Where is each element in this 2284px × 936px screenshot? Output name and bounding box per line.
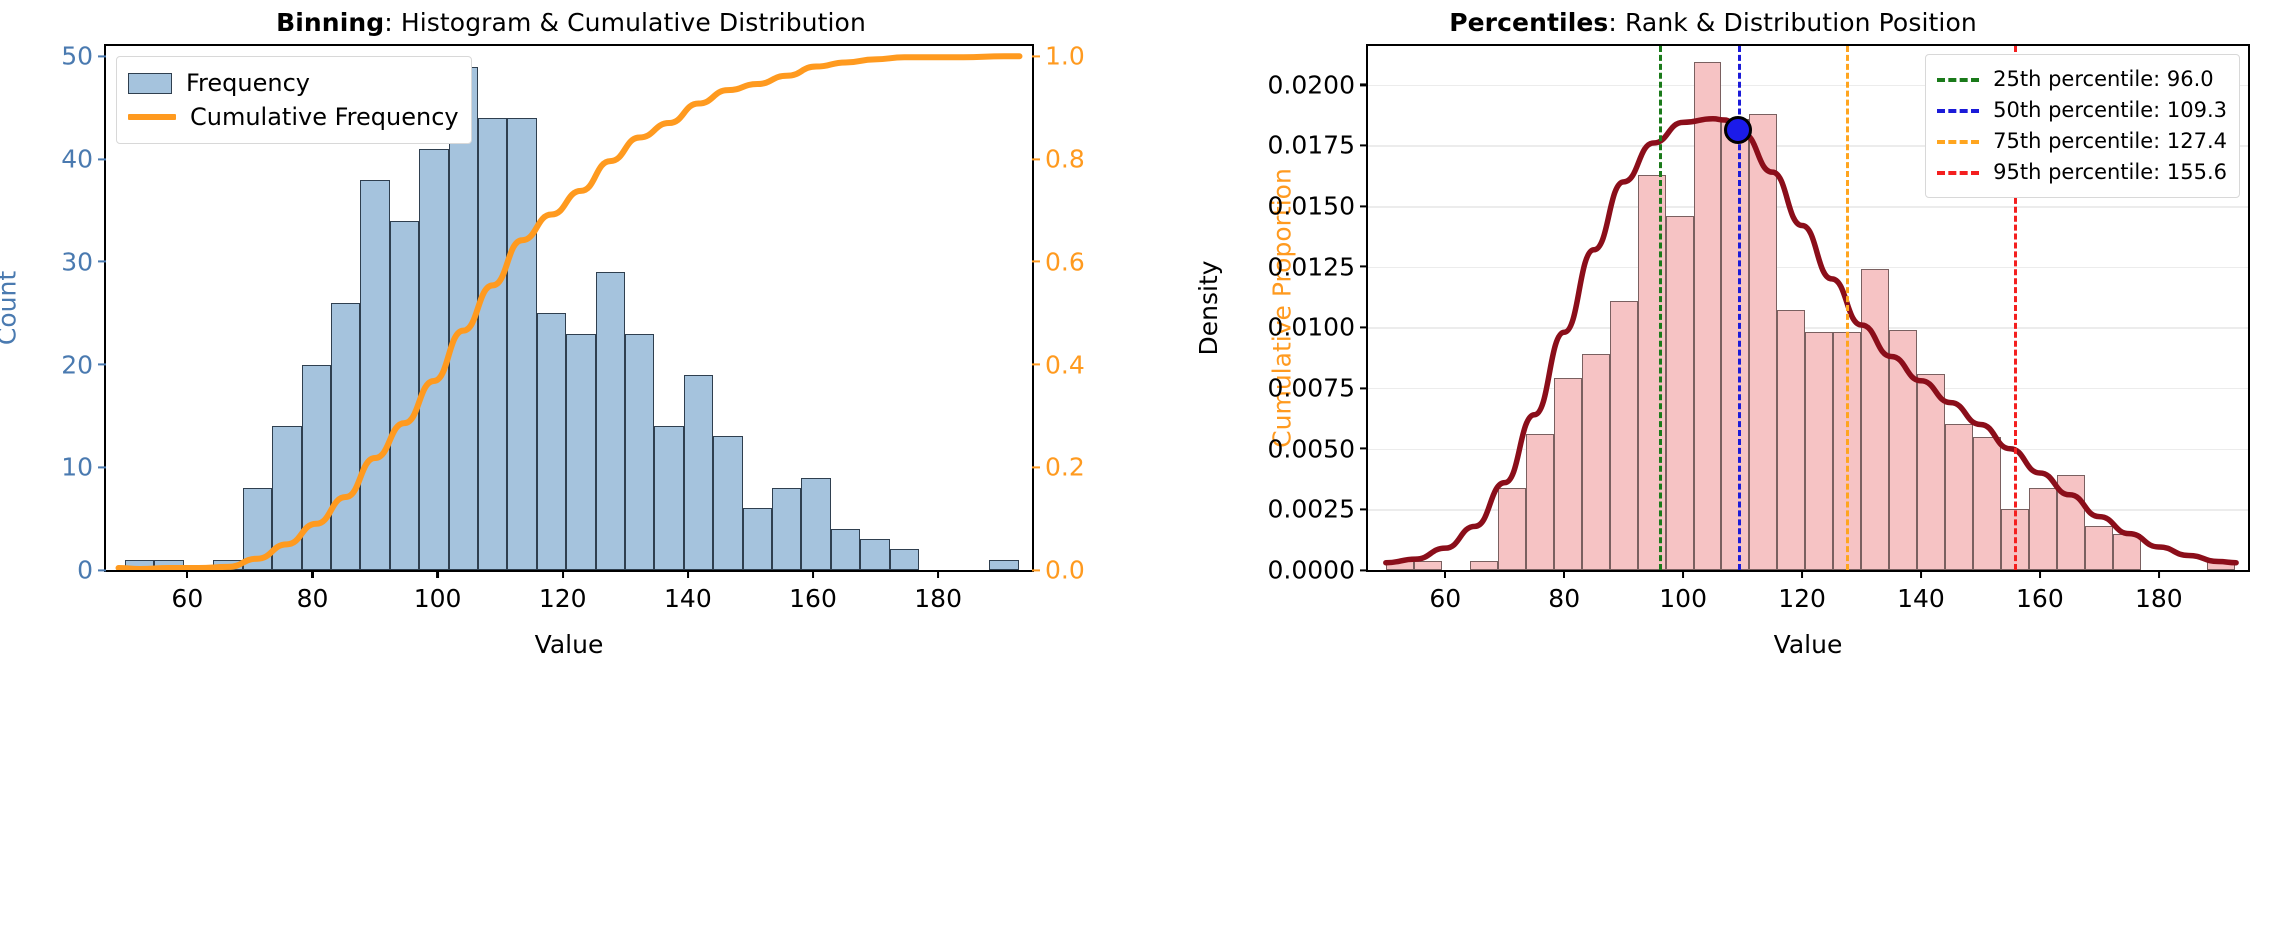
- right-title-rest: : Rank & Distribution Position: [1608, 8, 1976, 37]
- legend-swatch-frequency: [128, 73, 172, 94]
- density-tick: 0.0150: [1268, 194, 1368, 219]
- legend-label: 95th percentile: 155.6: [1993, 162, 2227, 183]
- percentile-line-75th-percentile: [1846, 46, 1849, 570]
- tick-mark: [98, 55, 106, 57]
- right-title-bold: Percentiles: [1449, 8, 1608, 37]
- tick-mark: [1032, 363, 1040, 365]
- legend-dash-swatch: [1937, 78, 1979, 82]
- tick-mark: [98, 363, 106, 365]
- left-ylabel-count: Count: [0, 271, 21, 345]
- value-tick: 60: [1429, 570, 1461, 611]
- legend-item[interactable]: 50th percentile: 109.3: [1937, 95, 2227, 126]
- tick-mark: [1360, 569, 1368, 571]
- tick-mark: [98, 466, 106, 468]
- tick-mark: [1360, 326, 1368, 328]
- legend-item[interactable]: Cumulative Frequency: [128, 100, 459, 134]
- tick-mark: [687, 570, 689, 578]
- right-chart-title: Percentiles: Rank & Distribution Positio…: [1142, 8, 2284, 37]
- right-ylabel-density: Density: [1194, 260, 1223, 355]
- tick-mark: [1563, 570, 1565, 578]
- tick-mark: [1360, 144, 1368, 146]
- patch-icon: [128, 73, 172, 94]
- left-chart-title: Binning: Histogram & Cumulative Distribu…: [0, 8, 1142, 37]
- legend-label: 75th percentile: 127.4: [1993, 131, 2227, 152]
- panel-binning: Binning: Histogram & Cumulative Distribu…: [0, 0, 1142, 936]
- figure-canvas: Binning: Histogram & Cumulative Distribu…: [0, 0, 2284, 936]
- cumulative-proportion-tick: 0.8: [1032, 147, 1085, 172]
- density-tick: 0.0200: [1268, 72, 1368, 97]
- tick-mark: [311, 570, 313, 578]
- value-tick: 100: [414, 570, 462, 611]
- density-tick: 0.0100: [1268, 315, 1368, 340]
- legend-swatch-cumulative: [128, 114, 176, 120]
- tick-mark: [1360, 387, 1368, 389]
- tick-mark: [1360, 84, 1368, 86]
- count-tick: 10: [61, 455, 106, 480]
- tick-mark: [1032, 55, 1040, 57]
- value-tick: 120: [539, 570, 587, 611]
- legend-label: 50th percentile: 109.3: [1993, 100, 2227, 121]
- tick-mark: [186, 570, 188, 578]
- percentile-line-25th-percentile: [1659, 46, 1662, 570]
- count-tick: 50: [61, 44, 106, 69]
- dashed-line-icon: [1937, 109, 1979, 113]
- tick-mark: [2039, 570, 2041, 578]
- tick-mark: [2158, 570, 2160, 578]
- tick-mark: [1444, 570, 1446, 578]
- tick-mark: [1032, 158, 1040, 160]
- legend-dash-swatch: [1937, 109, 1979, 113]
- legend-dash-swatch: [1937, 171, 1979, 175]
- tick-mark: [1360, 508, 1368, 510]
- value-tick: 140: [1897, 570, 1945, 611]
- count-tick: 0: [77, 558, 106, 583]
- dashed-line-icon: [1937, 171, 1979, 175]
- tick-mark: [1032, 569, 1040, 571]
- density-tick: 0.0075: [1268, 376, 1368, 401]
- legend-label: 25th percentile: 96.0: [1993, 69, 2213, 90]
- tick-mark: [98, 569, 106, 571]
- tick-mark: [1360, 205, 1368, 207]
- tick-mark: [98, 261, 106, 263]
- legend-item[interactable]: Frequency: [128, 66, 459, 100]
- left-legend[interactable]: FrequencyCumulative Frequency: [116, 56, 472, 144]
- count-tick: 40: [61, 147, 106, 172]
- tick-mark: [1360, 266, 1368, 268]
- right-xlabel-value: Value: [1774, 630, 1843, 659]
- cumulative-proportion-tick: 0.4: [1032, 352, 1085, 377]
- tick-mark: [1360, 448, 1368, 450]
- legend-label: Frequency: [186, 71, 310, 95]
- tick-mark: [1032, 261, 1040, 263]
- line-icon: [128, 114, 176, 120]
- left-axes: 01020304050 0.00.20.40.60.81.0 608010012…: [104, 44, 1034, 572]
- cumulative-proportion-tick: 0.0: [1032, 558, 1085, 583]
- dashed-line-icon: [1937, 140, 1979, 144]
- density-tick: 0.0000: [1268, 558, 1368, 583]
- density-tick: 0.0125: [1268, 254, 1368, 279]
- value-tick: 60: [171, 570, 203, 611]
- left-title-rest: : Histogram & Cumulative Distribution: [384, 8, 866, 37]
- cumulative-proportion-tick: 1.0: [1032, 44, 1085, 69]
- value-tick: 120: [1778, 570, 1826, 611]
- right-axes: 0.00000.00250.00500.00750.01000.01250.01…: [1366, 44, 2250, 572]
- cumulative-proportion-tick: 0.2: [1032, 455, 1085, 480]
- tick-mark: [562, 570, 564, 578]
- count-tick: 30: [61, 249, 106, 274]
- density-tick: 0.0050: [1268, 436, 1368, 461]
- tick-mark: [437, 570, 439, 578]
- density-tick: 0.0175: [1268, 133, 1368, 158]
- value-tick: 160: [789, 570, 837, 611]
- legend-item[interactable]: 75th percentile: 127.4: [1937, 126, 2227, 157]
- density-tick: 0.0025: [1268, 497, 1368, 522]
- value-tick: 180: [2135, 570, 2183, 611]
- legend-item[interactable]: 95th percentile: 155.6: [1937, 157, 2227, 188]
- value-tick: 160: [2016, 570, 2064, 611]
- legend-dash-swatch: [1937, 140, 1979, 144]
- right-legend[interactable]: 25th percentile: 96.050th percentile: 10…: [1925, 54, 2240, 198]
- value-tick: 80: [1548, 570, 1580, 611]
- tick-mark: [98, 158, 106, 160]
- tick-mark: [1032, 466, 1040, 468]
- tick-mark: [1682, 570, 1684, 578]
- legend-item[interactable]: 25th percentile: 96.0: [1937, 64, 2227, 95]
- median-marker-dot: [1724, 116, 1752, 144]
- tick-mark: [1920, 570, 1922, 578]
- panel-percentiles: Percentiles: Rank & Distribution Positio…: [1142, 0, 2284, 936]
- value-tick: 100: [1659, 570, 1707, 611]
- value-tick: 140: [664, 570, 712, 611]
- tick-mark: [937, 570, 939, 578]
- cumulative-proportion-tick: 0.6: [1032, 249, 1085, 274]
- tick-mark: [1801, 570, 1803, 578]
- left-title-bold: Binning: [276, 8, 384, 37]
- value-tick: 80: [297, 570, 329, 611]
- dashed-line-icon: [1937, 78, 1979, 82]
- left-xlabel-value: Value: [535, 630, 604, 659]
- value-tick: 180: [914, 570, 962, 611]
- legend-label: Cumulative Frequency: [190, 105, 459, 129]
- count-tick: 20: [61, 352, 106, 377]
- tick-mark: [812, 570, 814, 578]
